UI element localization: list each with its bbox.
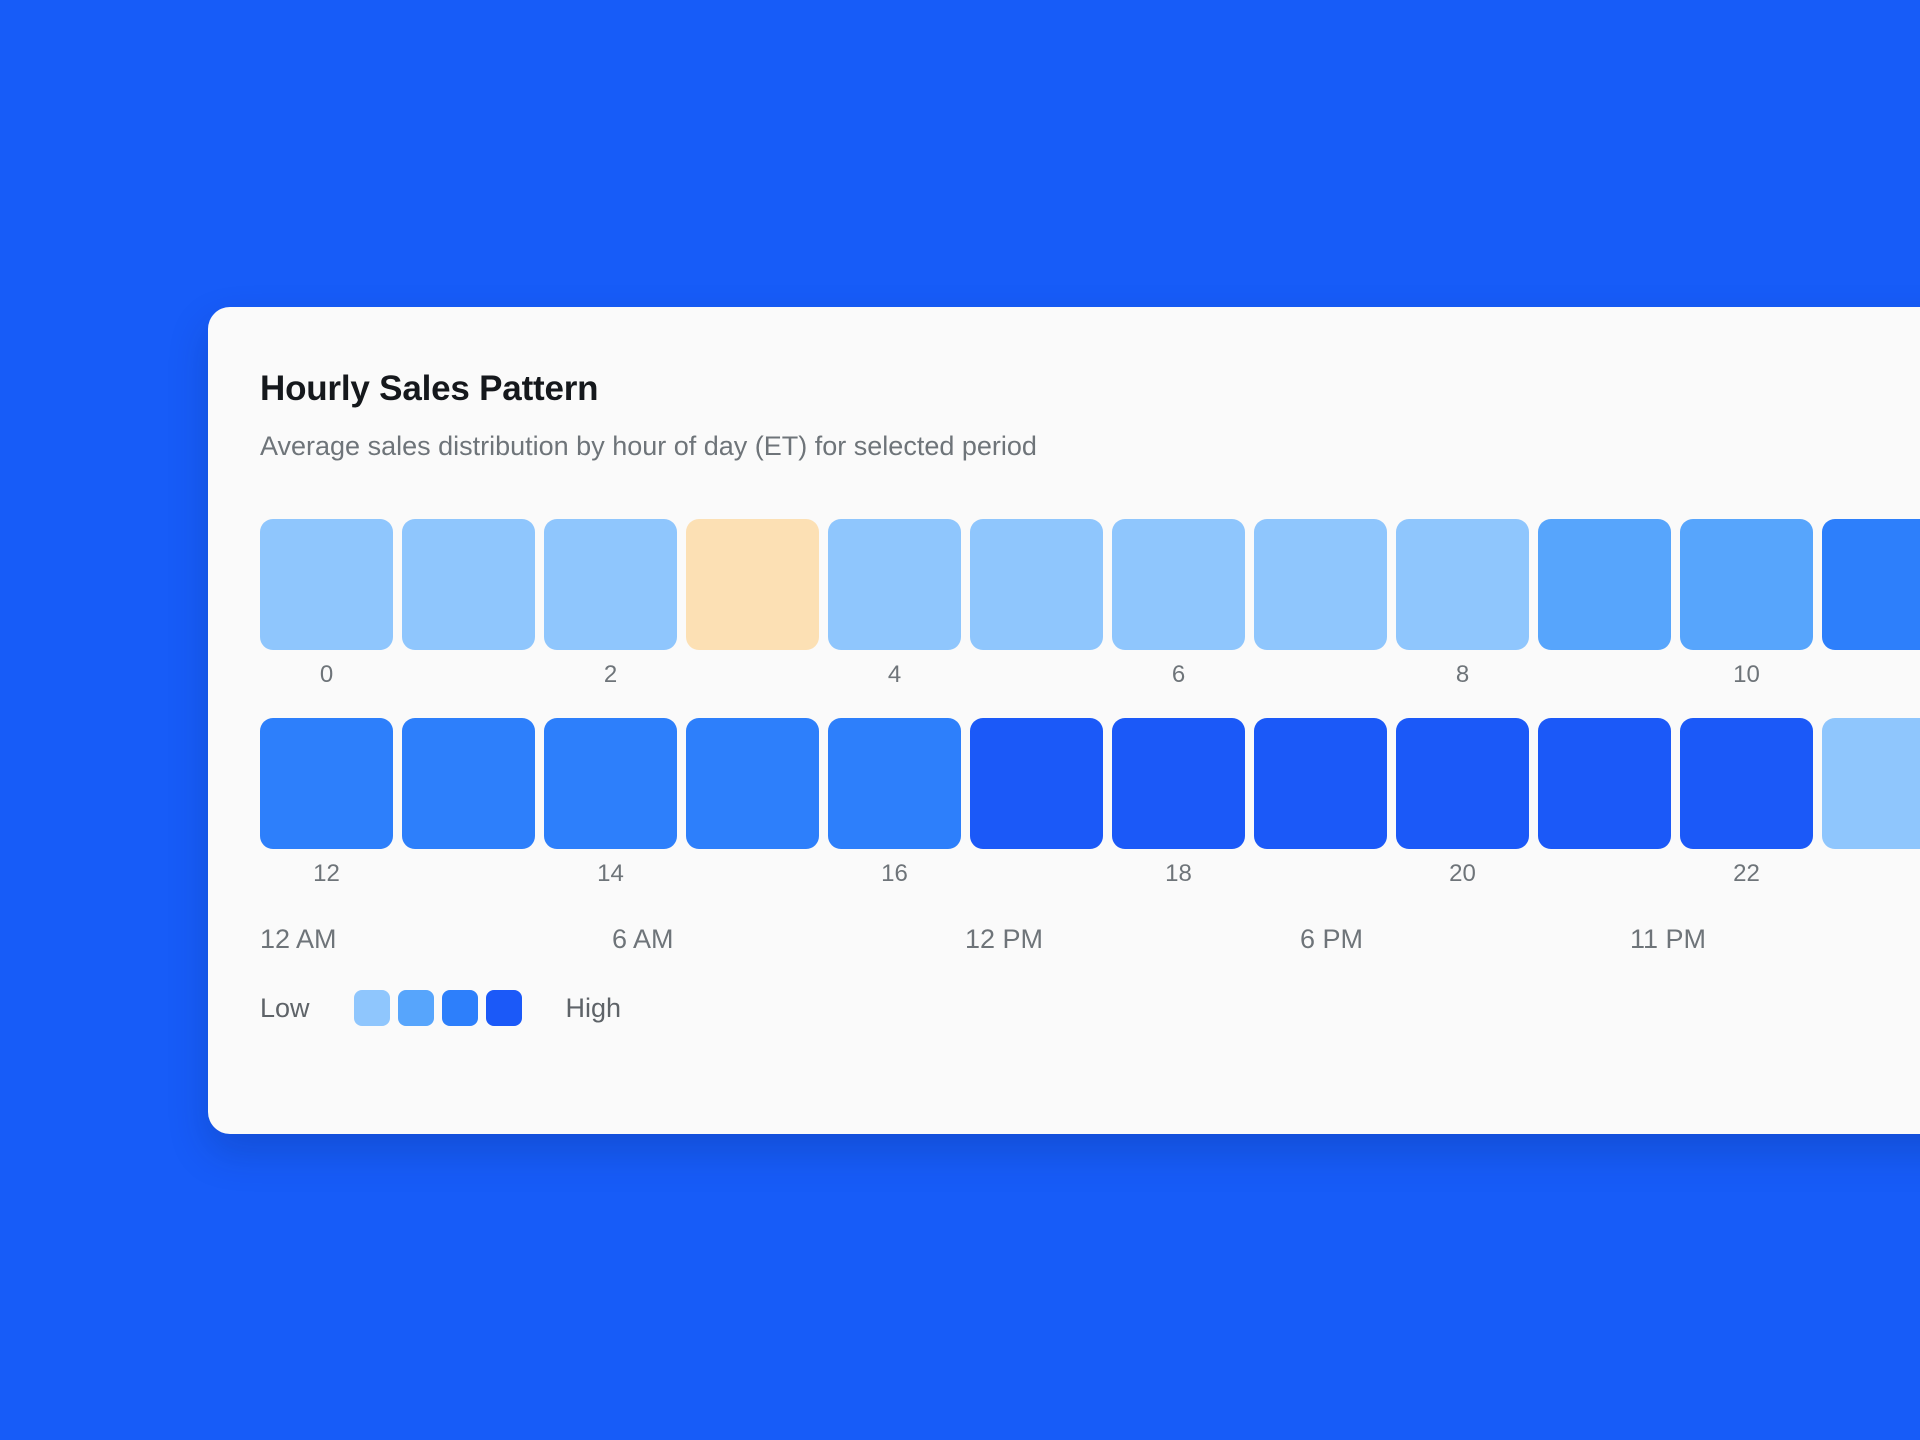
time-axis-tick: 6 PM — [1300, 916, 1363, 962]
legend-high-label: High — [566, 985, 622, 1031]
time-axis-tick: 12 AM — [260, 916, 337, 962]
legend-low-label: Low — [260, 985, 310, 1031]
heatmap-hour-label: 2 — [544, 650, 677, 699]
heatmap-cell-hour-9[interactable] — [1538, 519, 1671, 650]
heatmap-hour-label: 8 — [1396, 650, 1529, 699]
heatmap-hour-label: 18 — [1112, 849, 1245, 898]
heatmap-column: 0 — [260, 519, 402, 699]
hourly-sales-pattern-card: Hourly Sales Pattern Average sales distr… — [208, 307, 1920, 1134]
heatmap-cell-hour-4[interactable] — [828, 519, 961, 650]
heatmap-column: 2 — [544, 519, 686, 699]
heatmap-cell-hour-7[interactable] — [1254, 519, 1387, 650]
heatmap-hour-label — [402, 849, 535, 898]
heatmap-hour-label: 12 — [260, 849, 393, 898]
heatmap-hour-label: 20 — [1396, 849, 1529, 898]
heatmap-column — [1254, 718, 1396, 898]
heatmap-row-morning: 0 2 4 6 8 10 — [260, 519, 1920, 699]
heatmap-hour-label: 16 — [828, 849, 961, 898]
heatmap-cell-hour-16[interactable] — [828, 718, 961, 849]
heatmap-cell-hour-15[interactable] — [686, 718, 819, 849]
heatmap-hour-label: 0 — [260, 650, 393, 699]
heatmap-cell-hour-5[interactable] — [970, 519, 1103, 650]
heatmap-hour-label — [1254, 849, 1387, 898]
heatmap-hour-label — [686, 849, 819, 898]
heatmap-column: 6 — [1112, 519, 1254, 699]
heatmap-hour-label: 4 — [828, 650, 961, 699]
time-axis-tick: 12 PM — [965, 916, 1043, 962]
heatmap-hour-label — [970, 650, 1103, 699]
time-axis: 12 AM6 AM12 PM6 PM11 PM — [260, 916, 1920, 962]
heatmap-column: 18 — [1112, 718, 1254, 898]
heatmap-column — [686, 519, 828, 699]
heatmap-hour-label — [686, 650, 819, 699]
heatmap-hour-label — [402, 650, 535, 699]
heatmap-legend: Low High — [260, 985, 1920, 1031]
heatmap-hour-label — [970, 849, 1103, 898]
heatmap-hour-label — [1822, 849, 1920, 898]
heatmap-cell-hour-17[interactable] — [970, 718, 1103, 849]
legend-swatch-group — [354, 990, 522, 1026]
heatmap-column: 14 — [544, 718, 686, 898]
heatmap-cell-hour-20[interactable] — [1396, 718, 1529, 849]
heatmap-cell-hour-3[interactable] — [686, 519, 819, 650]
heatmap-hour-label: 14 — [544, 849, 677, 898]
heatmap-column: 20 — [1396, 718, 1538, 898]
heatmap-column: 8 — [1396, 519, 1538, 699]
heatmap-column — [970, 519, 1112, 699]
heatmap-column: 4 — [828, 519, 970, 699]
card-content: Hourly Sales Pattern Average sales distr… — [208, 307, 1920, 1134]
heatmap-cell-hour-22[interactable] — [1680, 718, 1813, 849]
heatmap-cell-hour-19[interactable] — [1254, 718, 1387, 849]
heatmap-column: 22 — [1680, 718, 1822, 898]
heatmap-column — [1538, 519, 1680, 699]
heatmap-column — [970, 718, 1112, 898]
heatmap-hour-label — [1822, 650, 1920, 699]
heatmap-cell-hour-1[interactable] — [402, 519, 535, 650]
heatmap-column: 10 — [1680, 519, 1822, 699]
chart-subtitle: Average sales distribution by hour of da… — [260, 431, 1920, 462]
heatmap-hour-label: 10 — [1680, 650, 1813, 699]
time-axis-tick: 11 PM — [1630, 916, 1706, 962]
heatmap-cell-hour-10[interactable] — [1680, 519, 1813, 650]
page-title: Hourly Sales Pattern — [260, 370, 1920, 409]
heatmap-cell-hour-12[interactable] — [260, 718, 393, 849]
time-axis-tick: 6 AM — [612, 916, 674, 962]
heatmap-hour-label — [1538, 849, 1671, 898]
heatmap-cell-hour-18[interactable] — [1112, 718, 1245, 849]
heatmap-cell-hour-6[interactable] — [1112, 519, 1245, 650]
heatmap-column — [402, 718, 544, 898]
heatmap-column: 16 — [828, 718, 970, 898]
heatmap-cell-hour-11[interactable] — [1822, 519, 1920, 650]
heatmap-column — [402, 519, 544, 699]
heatmap-row-evening: 12 14 16 18 20 22 — [260, 718, 1920, 898]
heatmap-cell-hour-13[interactable] — [402, 718, 535, 849]
heatmap-column — [1538, 718, 1680, 898]
heatmap-column — [1254, 519, 1396, 699]
heatmap-cell-hour-21[interactable] — [1538, 718, 1671, 849]
heatmap-hour-label — [1254, 650, 1387, 699]
heatmap-column: 12 — [260, 718, 402, 898]
heatmap-column — [1822, 718, 1920, 898]
heatmap-cell-hour-23[interactable] — [1822, 718, 1920, 849]
heatmap-cell-hour-0[interactable] — [260, 519, 393, 650]
heatmap-hour-label: 22 — [1680, 849, 1813, 898]
heatmap-hour-label: 6 — [1112, 650, 1245, 699]
heatmap-column — [1822, 519, 1920, 699]
heatmap-cell-hour-8[interactable] — [1396, 519, 1529, 650]
legend-swatch-level-1 — [354, 990, 390, 1026]
legend-swatch-level-3 — [442, 990, 478, 1026]
legend-swatch-level-2 — [398, 990, 434, 1026]
heatmap-cell-hour-14[interactable] — [544, 718, 677, 849]
heatmap-column — [686, 718, 828, 898]
legend-swatch-level-4 — [486, 990, 522, 1026]
heatmap-hour-label — [1538, 650, 1671, 699]
heatmap-cell-hour-2[interactable] — [544, 519, 677, 650]
